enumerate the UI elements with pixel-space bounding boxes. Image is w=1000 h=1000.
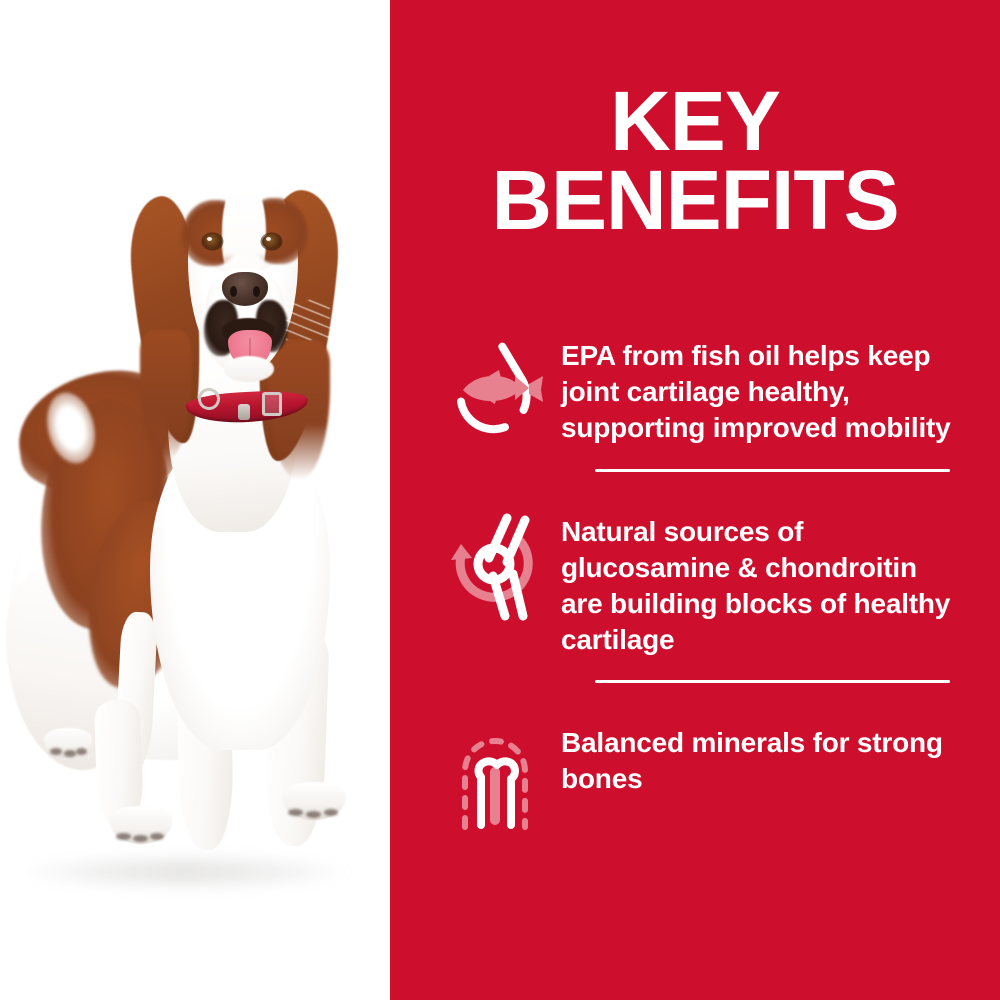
benefits-list: EPA from fish oil helps keep joint carti… [390, 330, 1000, 823]
dog-paw-back-left [44, 728, 92, 758]
spacer [390, 445, 1000, 469]
dog-chin [224, 356, 274, 382]
paw-toe [133, 835, 148, 842]
eye-glint [207, 237, 212, 241]
benefit-item-glucosamine-chondroitin: Natural sources of glucosamine & chondro… [390, 494, 1000, 657]
collar-tag [238, 404, 250, 420]
dog-whiskers [286, 300, 330, 340]
paw-toe [324, 809, 338, 816]
paw-toe [150, 833, 164, 840]
dog-paw-front-left [110, 806, 172, 844]
benefit-text-glucosamine-chondroitin: Natural sources of glucosamine & chondro… [545, 512, 960, 657]
dog-nostril-left [230, 286, 237, 297]
paw-toe [50, 748, 62, 755]
collar-buckle [262, 392, 282, 416]
dog-nostril-right [253, 286, 260, 297]
dog-paw-front-right [282, 782, 346, 820]
spacer [390, 472, 1000, 494]
paw-toe [306, 811, 321, 818]
dog-image [0, 0, 390, 1000]
joint-mobility-icon [445, 512, 545, 612]
benefit-text-balanced-minerals: Balanced minerals for strong bones [545, 723, 960, 797]
benefit-item-balanced-minerals: Balanced minerals for strong bones [390, 703, 1000, 823]
dog-eye-left [203, 234, 222, 249]
title-line-2: BENEFITS [390, 161, 1000, 240]
page-title: KEY BENEFITS [390, 82, 1000, 240]
paw-toe [64, 750, 76, 757]
paw-toe [116, 833, 131, 840]
key-benefits-infographic: KEY BENEFITS [0, 0, 1000, 1000]
paw-toe [76, 748, 87, 755]
benefit-item-epa-fish-oil: EPA from fish oil helps keep joint carti… [390, 330, 1000, 445]
strong-bone-icon [445, 723, 545, 823]
benefit-text-epa-fish-oil: EPA from fish oil helps keep joint carti… [545, 336, 960, 445]
spacer [390, 683, 1000, 703]
dog-photo-panel [0, 0, 390, 1000]
benefits-panel: KEY BENEFITS [390, 0, 1000, 1000]
spacer [390, 658, 1000, 680]
dog-eye-right [262, 234, 281, 249]
paw-toe [288, 809, 303, 816]
ground-shadow [20, 852, 350, 892]
fish-oil-droplet-icon [445, 336, 545, 436]
eye-glint [266, 237, 271, 241]
